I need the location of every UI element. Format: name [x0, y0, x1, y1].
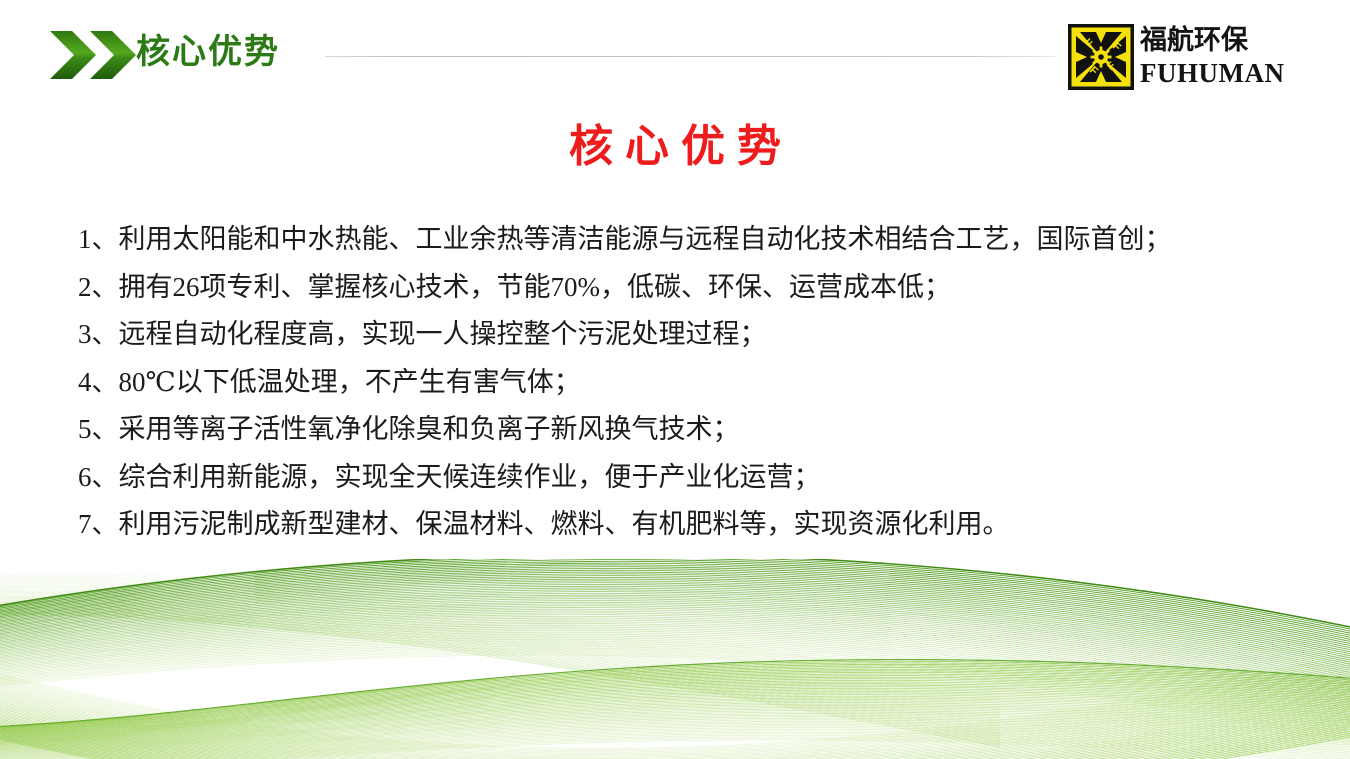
double-chevron-right-icon [50, 31, 138, 79]
logo-english-name: FUHUMAN [1140, 58, 1270, 88]
green-ribbon-wave [0, 559, 1350, 759]
fuhuman-emblem-icon: F F F F [1068, 24, 1134, 90]
company-logo: F F F F [1068, 24, 1268, 90]
logo-wordmark: 福航环保 FUHUMAN [1140, 24, 1270, 90]
list-item: 4、80℃以下低温处理，不产生有害气体； [78, 359, 1308, 407]
list-item: 7、利用污泥制成新型建材、保温材料、燃料、有机肥料等，实现资源化利用。 [78, 501, 1308, 549]
list-item: 6、综合利用新能源，实现全天候连续作业，便于产业化运营； [78, 454, 1308, 502]
advantages-list: 1、利用太阳能和中水热能、工业余热等清洁能源与远程自动化技术相结合工艺，国际首创… [78, 216, 1308, 549]
page-title: 核心优势 [0, 119, 1350, 175]
list-item: 5、采用等离子活性氧净化除臭和负离子新风换气技术； [78, 406, 1308, 454]
slide-header: 核心优势 F F F [0, 0, 1350, 110]
list-item: 3、远程自动化程度高，实现一人操控整个污泥处理过程； [78, 311, 1308, 359]
list-item: 1、利用太阳能和中水热能、工业余热等清洁能源与远程自动化技术相结合工艺，国际首创… [78, 216, 1308, 264]
logo-chinese-name: 福航环保 [1140, 24, 1270, 58]
slide-canvas: 核心优势 F F F [0, 0, 1350, 759]
section-title: 核心优势 [136, 28, 280, 78]
list-item: 2、拥有26项专利、掌握核心技术，节能70%，低碳、环保、运营成本低； [78, 264, 1308, 312]
header-divider [325, 56, 1055, 57]
